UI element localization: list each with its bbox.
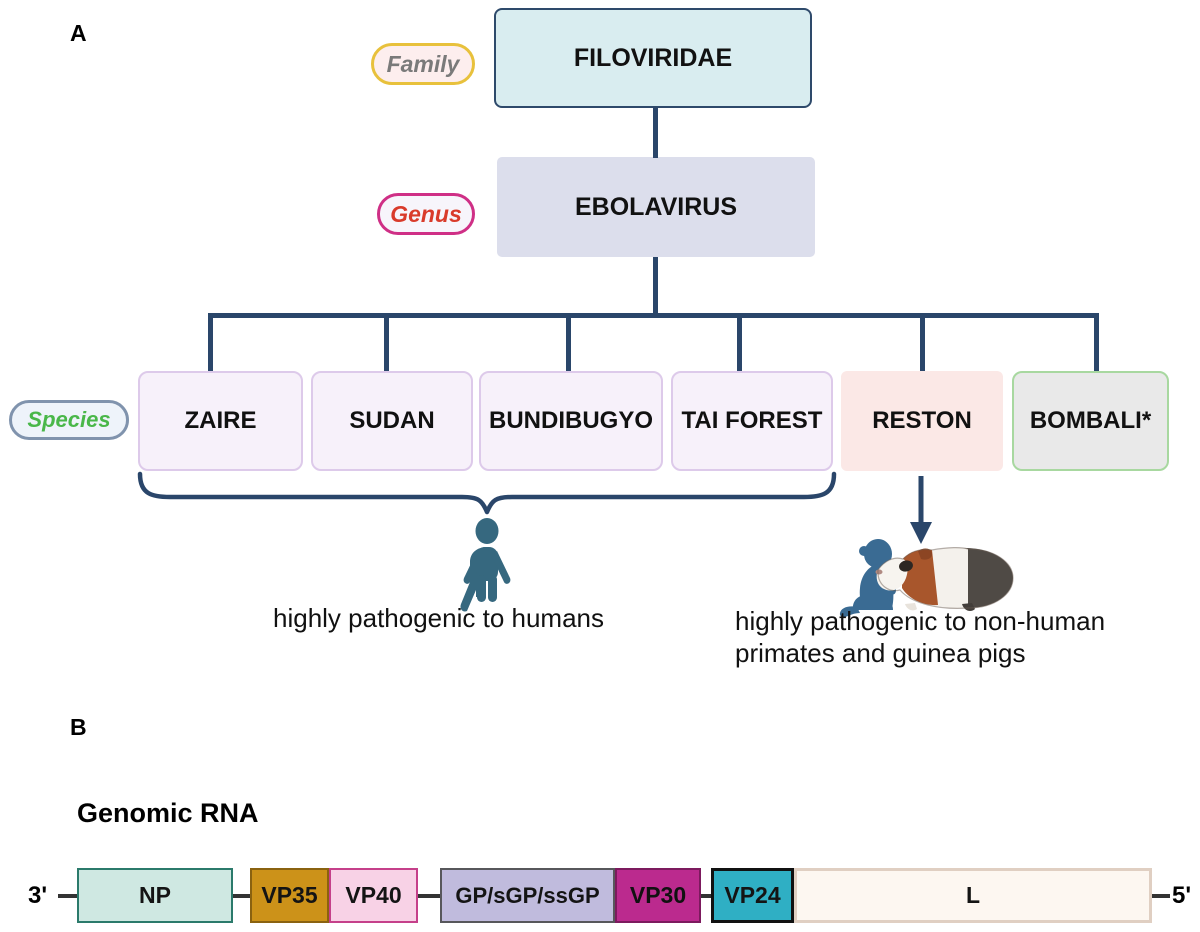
rank-badge-family: Family	[371, 43, 475, 85]
connector-drop-sudan	[384, 313, 389, 373]
species-box-bundibugyo: BUNDIBUGYO	[479, 371, 663, 471]
gene-box-np: NP	[77, 868, 233, 923]
rank-badge-species: Species	[9, 400, 129, 440]
genome-linker-np-vp35	[232, 894, 251, 898]
taxon-box-family: FILOVIRIDAE	[494, 8, 812, 108]
connector-family-genus	[653, 108, 658, 158]
genome-3prime-label: 3'	[28, 882, 47, 910]
species-box-tai-forest: TAI FOREST	[671, 371, 833, 471]
genome-linker-vp40-gp	[417, 894, 441, 898]
species-box-reston: RESTON	[841, 371, 1003, 471]
connector-drop-bundibugyo	[566, 313, 571, 373]
gene-box-gp-sgp-ssgp: GP/sGP/ssGP	[440, 868, 615, 923]
species-box-zaire: ZAIRE	[138, 371, 303, 471]
figure-root: A Family Genus Species FILOVIRIDAE EBOLA…	[0, 0, 1200, 932]
brace-human-pathogenic	[140, 474, 834, 512]
rank-badge-genus: Genus	[377, 193, 475, 235]
guinea-pig-icon	[876, 548, 1014, 611]
genome-linker-5prime	[1152, 894, 1170, 898]
connector-drop-bombali	[1094, 313, 1099, 373]
gene-box-vp24: VP24	[711, 868, 794, 923]
connector-drop-reston	[920, 313, 925, 373]
arrow-reston-head	[910, 522, 932, 544]
connector-genus-bus	[653, 257, 658, 317]
caption-animal-pathogenicity: highly pathogenic to non-human primates …	[735, 606, 1105, 669]
genomic-rna-title: Genomic RNA	[77, 798, 259, 829]
genome-5prime-label: 5'	[1172, 882, 1191, 910]
gene-box-vp30: VP30	[615, 868, 701, 923]
taxon-box-genus: EBOLAVIRUS	[497, 157, 815, 257]
panel-b-label: B	[70, 714, 87, 741]
gene-box-l: L	[794, 868, 1152, 923]
genome-linker-3prime	[58, 894, 78, 898]
connector-species-bus	[208, 313, 1099, 318]
species-box-bombali: BOMBALI*	[1012, 371, 1169, 471]
connector-drop-tai-forest	[737, 313, 742, 373]
person-icon	[460, 518, 510, 612]
panel-a-label: A	[70, 20, 87, 47]
connector-drop-zaire	[208, 313, 213, 373]
caption-human-pathogenicity: highly pathogenic to humans	[273, 603, 604, 635]
gene-box-vp40: VP40	[329, 868, 418, 923]
gene-box-vp35: VP35	[250, 868, 329, 923]
species-box-sudan: SUDAN	[311, 371, 473, 471]
